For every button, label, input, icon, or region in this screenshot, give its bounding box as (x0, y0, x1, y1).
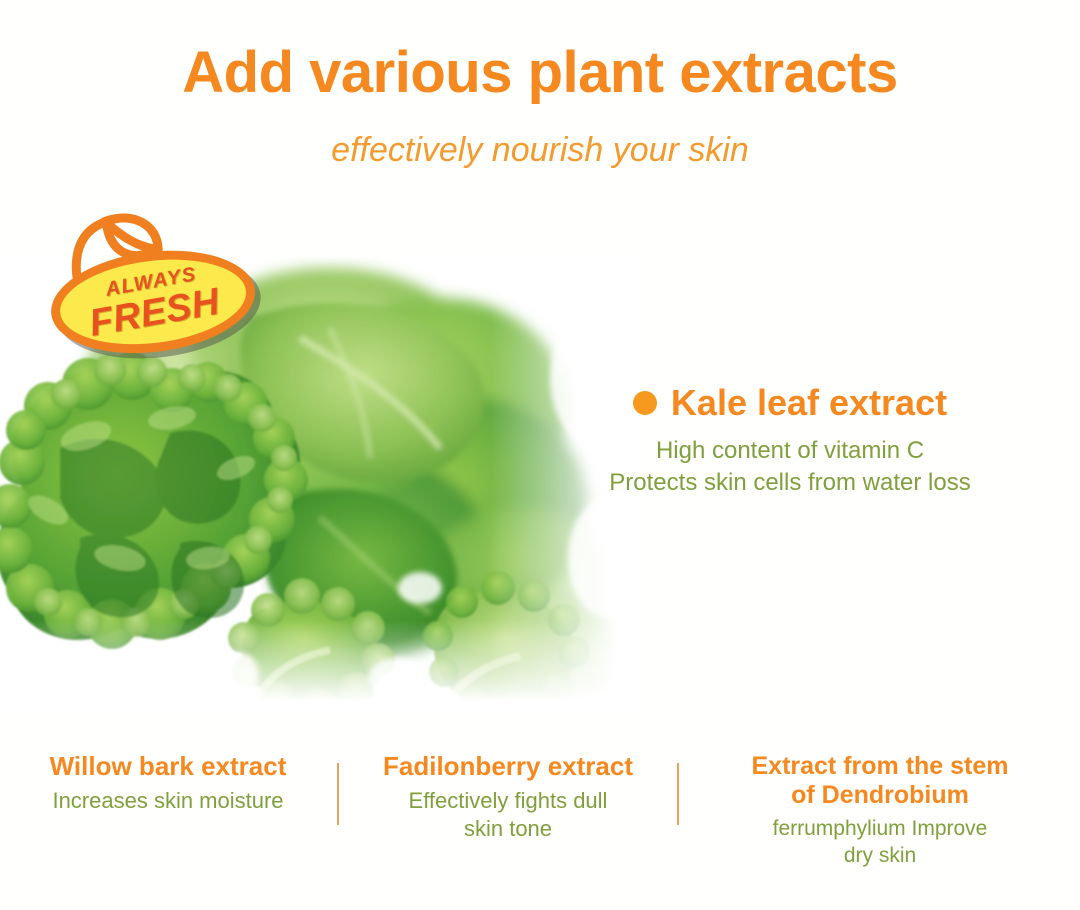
featured-extract-title: Kale leaf extract (671, 385, 947, 421)
extract-description: ferrumphylium Improve dry skin (680, 815, 1080, 870)
featured-extract-description-line-2: Protects skin cells from water loss (560, 467, 1020, 499)
promo-banner: Add various plant extracts effectively n… (0, 0, 1080, 910)
extract-column-willow-bark: Willow bark extract Increases skin moist… (0, 752, 336, 815)
extract-description: Increases skin moisture (0, 787, 336, 816)
extract-title: Fadilonberry extract (340, 752, 676, 782)
featured-extract-description-line-1: High content of vitamin C (560, 435, 1020, 467)
bullet-dot-icon (633, 391, 657, 415)
extract-title: Extract from the stem of Dendrobium (680, 752, 1080, 810)
extract-column-fadilonberry: Fadilonberry extract Effectively fights … (340, 752, 676, 844)
photo-bottom-fade (0, 620, 640, 710)
header: Add various plant extracts effectively n… (0, 0, 1080, 200)
always-fresh-badge: ALWAYS FRESH (36, 206, 266, 356)
extract-column-dendrobium: Extract from the stem of Dendrobium ferr… (680, 752, 1080, 869)
extract-title: Willow bark extract (0, 752, 336, 782)
featured-extract-header: Kale leaf extract (560, 385, 1020, 421)
page-subtitle: effectively nourish your skin (0, 133, 1080, 167)
page-title: Add various plant extracts (0, 44, 1080, 102)
column-divider (677, 763, 679, 825)
featured-extract: Kale leaf extract High content of vitami… (560, 385, 1020, 498)
column-divider (337, 763, 339, 825)
extract-description: Effectively fights dull skin tone (340, 787, 676, 844)
extract-columns: Willow bark extract Increases skin moist… (0, 752, 1080, 910)
